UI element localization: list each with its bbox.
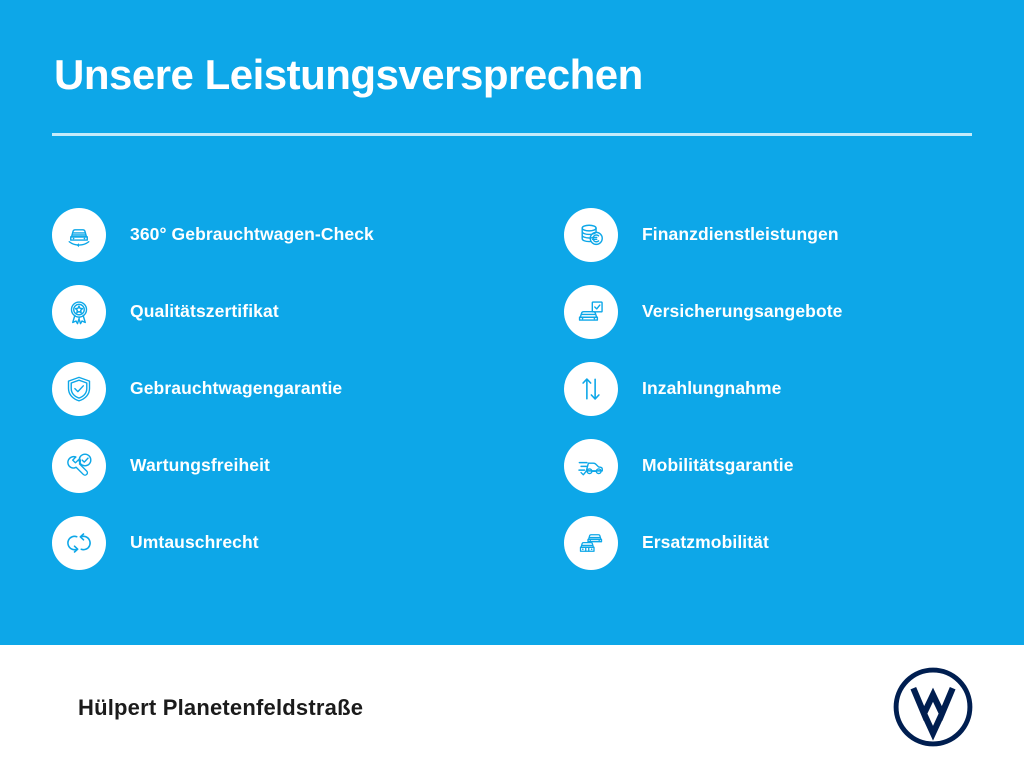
features-right-column: Finanzdienstleistungen <box>512 196 1024 581</box>
feature-label: Ersatzmobilität <box>642 532 769 553</box>
feature-item-mobilitaetsgarantie[interactable]: Mobilitätsgarantie <box>564 427 1024 504</box>
volkswagen-logo <box>892 666 974 748</box>
feature-item-gebrauchtwagengarantie[interactable]: Gebrauchtwagengarantie <box>52 350 512 427</box>
feature-label: Mobilitätsgarantie <box>642 455 794 476</box>
exchange-arrows-icon <box>52 516 106 570</box>
dealer-name: Hülpert Planetenfeldstraße <box>78 695 363 721</box>
hero-panel: Unsere Leistungsversprechen <box>0 0 1024 645</box>
coins-euro-icon <box>564 208 618 262</box>
car-document-check-icon <box>564 285 618 339</box>
feature-label: Versicherungsangebote <box>642 301 843 322</box>
page-title: Unsere Leistungsversprechen <box>54 52 643 98</box>
feature-item-360-check[interactable]: 360° Gebrauchtwagen-Check <box>52 196 512 273</box>
promo-page: Unsere Leistungsversprechen <box>0 0 1024 768</box>
wrench-check-icon <box>52 439 106 493</box>
feature-label: Qualitätszertifikat <box>130 301 279 322</box>
features-left-column: 360° Gebrauchtwagen-Check Qualitätszerti… <box>0 196 512 581</box>
feature-item-versicherungsangebote[interactable]: Versicherungsangebote <box>564 273 1024 350</box>
up-down-arrows-icon <box>564 362 618 416</box>
two-cars-icon <box>564 516 618 570</box>
car-check-360-icon <box>52 208 106 262</box>
footer-bar: Hülpert Planetenfeldstraße <box>0 645 1024 768</box>
feature-label: Gebrauchtwagengarantie <box>130 378 342 399</box>
feature-item-qualitaetszertifikat[interactable]: Qualitätszertifikat <box>52 273 512 350</box>
car-motion-icon <box>564 439 618 493</box>
feature-item-finanzdienstleistungen[interactable]: Finanzdienstleistungen <box>564 196 1024 273</box>
feature-label: Inzahlungnahme <box>642 378 781 399</box>
feature-label: Wartungsfreiheit <box>130 455 270 476</box>
feature-item-inzahlungnahme[interactable]: Inzahlungnahme <box>564 350 1024 427</box>
feature-label: 360° Gebrauchtwagen-Check <box>130 224 374 245</box>
features-grid: 360° Gebrauchtwagen-Check Qualitätszerti… <box>0 196 1024 581</box>
title-divider <box>52 133 972 136</box>
feature-item-umtauschrecht[interactable]: Umtauschrecht <box>52 504 512 581</box>
award-badge-icon <box>52 285 106 339</box>
feature-label: Finanzdienstleistungen <box>642 224 839 245</box>
feature-label: Umtauschrecht <box>130 532 259 553</box>
feature-item-ersatzmobilitaet[interactable]: Ersatzmobilität <box>564 504 1024 581</box>
shield-check-icon <box>52 362 106 416</box>
feature-item-wartungsfreiheit[interactable]: Wartungsfreiheit <box>52 427 512 504</box>
